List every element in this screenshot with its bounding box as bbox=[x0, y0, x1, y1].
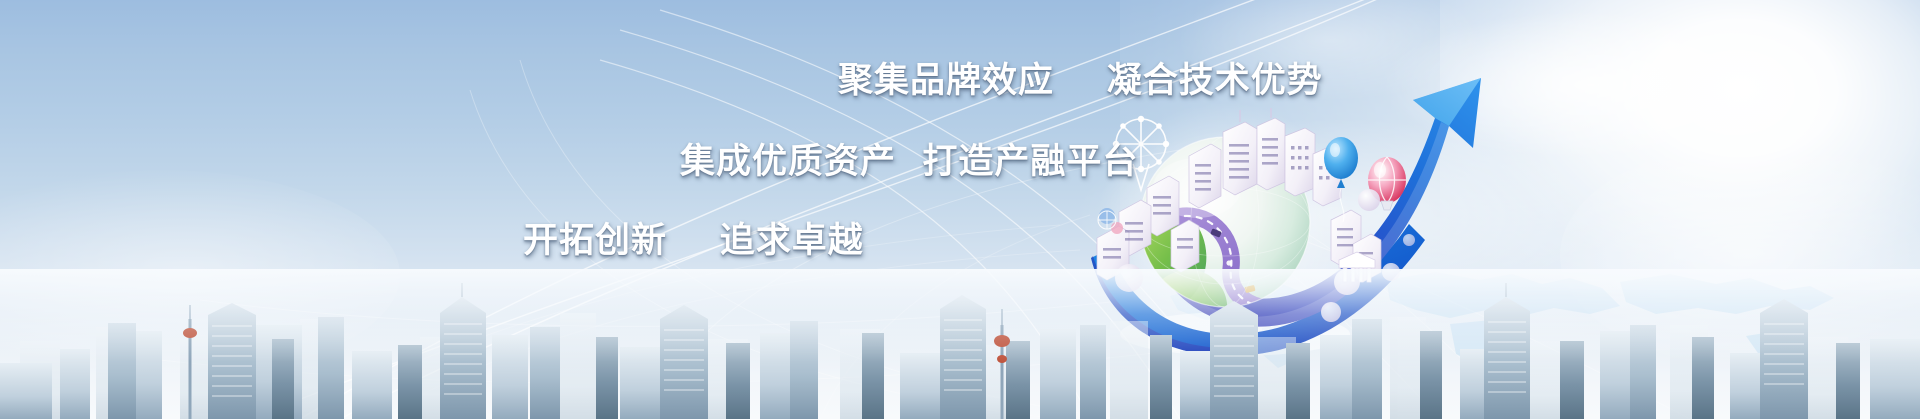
slogan-line-2: 集成优质资产 打造产融平台 bbox=[680, 133, 1138, 184]
slogan-line-3: 开拓创新 追求卓越 bbox=[523, 212, 864, 263]
slogan-line-1: 聚集品牌效应 凝合技术优势 bbox=[838, 52, 1323, 103]
city-skyline-silhouette bbox=[0, 279, 1920, 419]
hero-banner: 聚集品牌效应 凝合技术优势 集成优质资产 打造产融平台 开拓创新 追求卓越 bbox=[0, 0, 1920, 419]
